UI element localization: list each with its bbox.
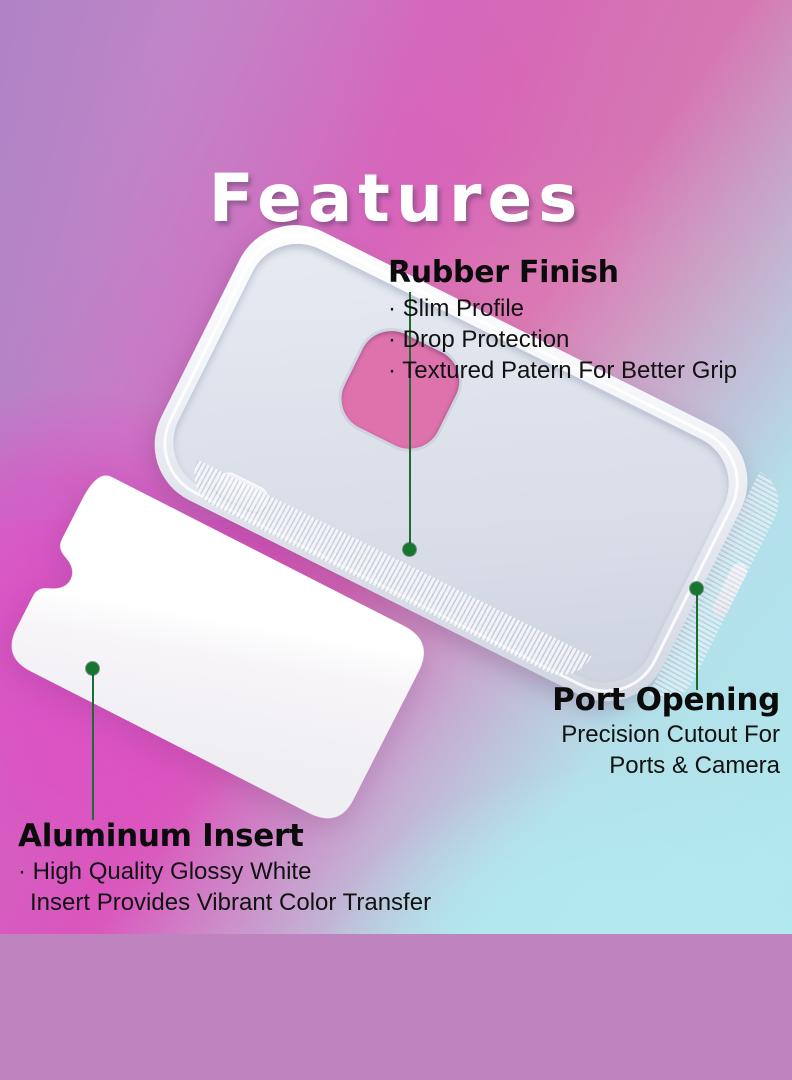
feature-heading-aluminum-insert: Aluminum Insert (18, 818, 431, 854)
marker-dot-aluminum-insert (86, 662, 99, 675)
feature-text-line: Insert Provides Vibrant Color Transfer (30, 888, 431, 919)
feature-block-aluminum-insert: Aluminum Insert · High Quality Glossy Wh… (18, 818, 431, 918)
infographic-canvas: Features Rub (0, 0, 792, 1080)
feature-block-port-opening: Port Opening Precision Cutout For Ports … (552, 682, 780, 781)
marker-dot-port-opening (690, 582, 703, 595)
leader-line-aluminum-insert (92, 672, 94, 820)
marker-dot-rubber-finish (403, 543, 416, 556)
feature-heading-rubber-finish: Rubber Finish (388, 255, 737, 290)
list-item: · Textured Patern For Better Grip (388, 355, 737, 386)
list-item: · Slim Profile (388, 293, 737, 324)
bottom-purple-band (0, 934, 792, 1080)
list-item: · Drop Protection (388, 324, 737, 355)
feature-heading-port-opening: Port Opening (552, 682, 780, 718)
feature-text-line: Ports & Camera (552, 751, 780, 782)
leader-line-port-opening (696, 592, 698, 690)
feature-text-line: · High Quality Glossy White (18, 857, 431, 888)
feature-text-line: Precision Cutout For (552, 720, 780, 751)
feature-bullets-rubber-finish: · Slim Profile · Drop Protection · Textu… (388, 293, 737, 387)
feature-block-rubber-finish: Rubber Finish · Slim Profile · Drop Prot… (388, 255, 737, 387)
